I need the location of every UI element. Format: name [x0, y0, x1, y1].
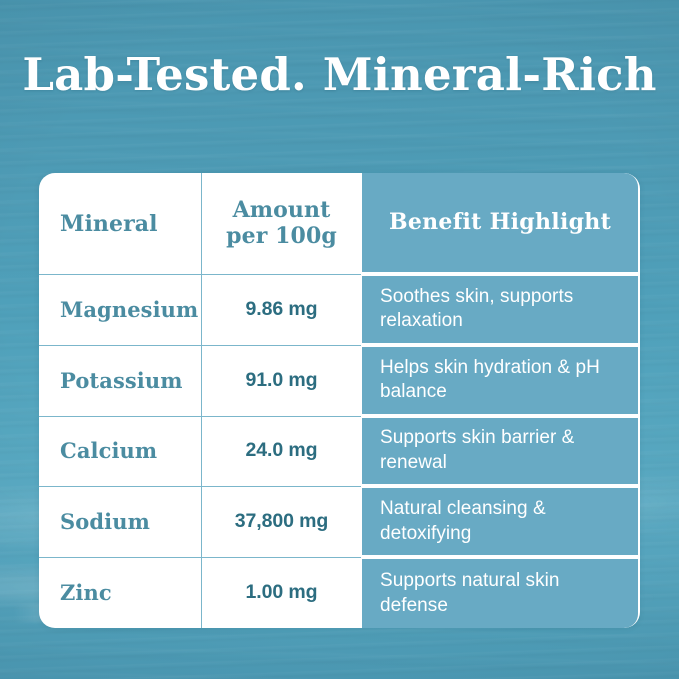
column-header-amount-line1: Amount — [226, 198, 337, 224]
cell-benefit: Soothes skin, supports relaxation — [362, 276, 638, 343]
cell-mineral: Magnesium — [39, 274, 201, 345]
cell-mineral: Potassium — [39, 345, 201, 416]
cell-amount: 91.0 mg — [201, 345, 361, 416]
page-root: Lab-Tested. Mineral-Rich Mineral Amount … — [0, 0, 679, 679]
benefit-text: Supports natural skin defense — [380, 569, 620, 618]
mineral-table: Mineral Amount per 100g Benefit Highligh… — [39, 173, 640, 628]
table-header-row: Mineral Amount per 100g Benefit Highligh… — [39, 173, 640, 274]
column-header-amount: Amount per 100g — [201, 173, 361, 274]
benefit-text: Soothes skin, supports relaxation — [380, 285, 620, 334]
cell-benefit: Natural cleansing & detoxifying — [362, 488, 638, 555]
cell-mineral: Zinc — [39, 557, 201, 628]
table-row: Calcium 24.0 mg Supports skin barrier & … — [39, 416, 640, 487]
column-header-mineral: Mineral — [39, 173, 201, 274]
column-header-amount-line2: per 100g — [226, 224, 337, 250]
benefit-text: Helps skin hydration & pH balance — [380, 356, 620, 405]
column-header-benefit: Benefit Highlight — [362, 173, 638, 272]
page-title: Lab-Tested. Mineral-Rich — [0, 52, 679, 97]
cell-amount: 1.00 mg — [201, 557, 361, 628]
cell-amount: 24.0 mg — [201, 416, 361, 487]
table-row: Potassium 91.0 mg Helps skin hydration &… — [39, 345, 640, 416]
benefit-text: Natural cleansing & detoxifying — [380, 497, 620, 546]
cell-mineral: Calcium — [39, 416, 201, 487]
cell-amount: 9.86 mg — [201, 274, 361, 345]
table-row: Zinc 1.00 mg Supports natural skin defen… — [39, 557, 640, 628]
cell-benefit: Helps skin hydration & pH balance — [362, 347, 638, 414]
table-row: Magnesium 9.86 mg Soothes skin, supports… — [39, 274, 640, 345]
cell-benefit: Supports skin barrier & renewal — [362, 418, 638, 485]
table-row: Sodium 37,800 mg Natural cleansing & det… — [39, 486, 640, 557]
cell-mineral: Sodium — [39, 486, 201, 557]
benefit-text: Supports skin barrier & renewal — [380, 426, 620, 475]
cell-benefit: Supports natural skin defense — [362, 559, 638, 628]
cell-amount: 37,800 mg — [201, 486, 361, 557]
